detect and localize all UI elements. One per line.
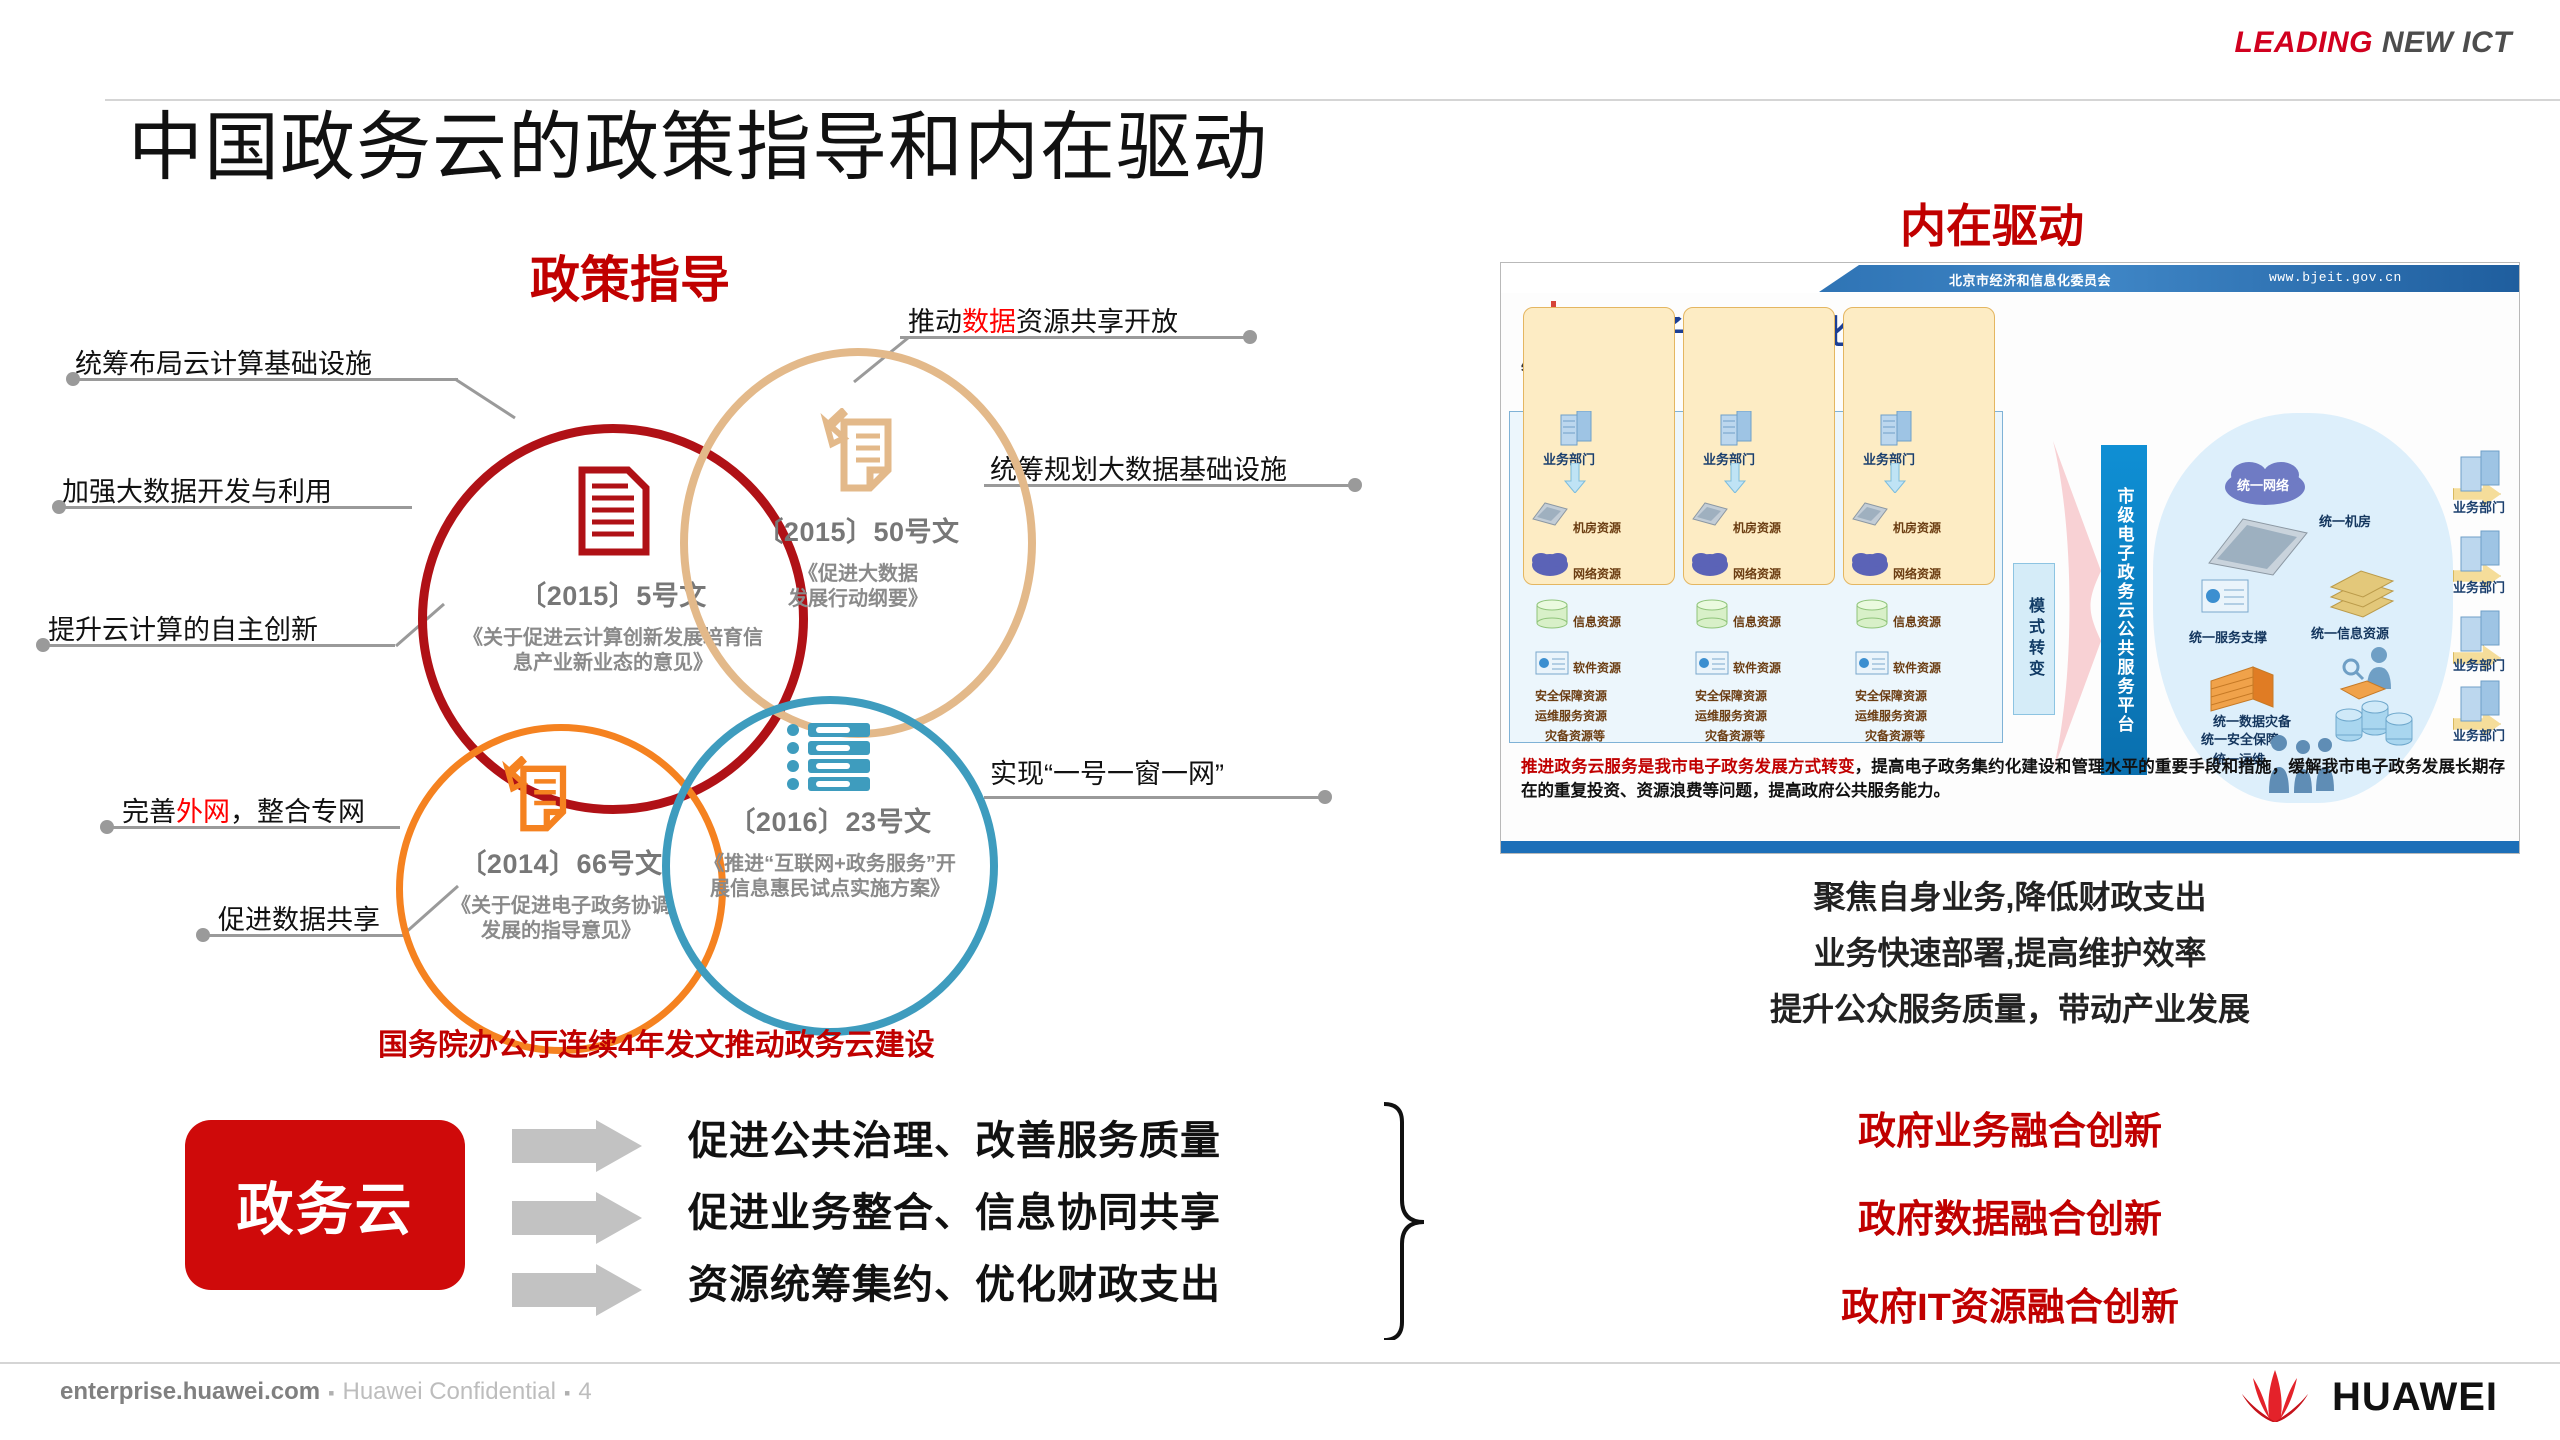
callout-left-4-pre: 完善 — [122, 797, 176, 827]
diagram-platform-bar: 市级电子政务云公共服务平台 — [2101, 445, 2147, 775]
right-bullet-3: 提升公众服务质量，带动产业发展 — [1500, 984, 2520, 1030]
footer-divider — [0, 1362, 2560, 1364]
callout-left-5-dot — [196, 928, 210, 942]
unified-service-support-icon — [2201, 579, 2249, 615]
diagram-res-3-2: 网络资源 — [1893, 565, 1941, 582]
down-arrow-1 — [1563, 463, 1587, 493]
callout-left-1-line — [78, 378, 458, 381]
callout-left-5-label: 促进数据共享 — [218, 898, 380, 937]
signed-document-icon-tan — [818, 408, 898, 492]
right-innovation-1: 政府业务融合创新 — [1500, 1100, 2520, 1155]
out-server-icon-3 — [2459, 609, 2503, 653]
callout-left-3-line — [45, 644, 395, 647]
callout-right-1-highlight: 数据 — [962, 307, 1016, 337]
server-icon-dept-2 — [1719, 411, 1753, 449]
diagram-cloud-label-2: 统一机房 — [2319, 511, 2371, 530]
diagram-res-1-1: 机房资源 — [1573, 519, 1621, 536]
callout-right-1-line — [900, 336, 1250, 339]
diagram-xres-3-3: 灾备资源等 — [1865, 727, 1925, 744]
right-innovation-2: 政府数据融合创新 — [1500, 1188, 2520, 1243]
callout-left-2-label: 加强大数据开发与利用 — [62, 470, 332, 509]
callout-left-5-line — [206, 934, 406, 937]
callout-left-4-highlight: 外网 — [176, 797, 230, 827]
callout-left-1-elbow — [455, 360, 545, 430]
policy-circle-2016-23-desc: 《推进“互联网+政务服务”开 展信息惠民试点实施方案》 — [662, 852, 998, 902]
diagram-xres-3-2: 运维服务资源 — [1855, 707, 1927, 724]
diagram-xres-1-2: 运维服务资源 — [1535, 707, 1607, 724]
policy-circle-2016-23-text: 〔2016〕23号文 《推进“互联网+政务服务”开 展信息惠民试点实施方案》 — [662, 800, 998, 902]
diagram-cloud-label-3: 统一信息资源 — [2311, 623, 2389, 642]
diagram-res-2-2: 网络资源 — [1733, 565, 1781, 582]
arrow-icon-2 — [512, 1192, 642, 1244]
pink-flow-arrow — [2049, 441, 2101, 771]
diagram-res-1-4: 软件资源 — [1573, 659, 1621, 676]
database-glyph-3 — [1855, 599, 1889, 629]
server-icon-dept-3 — [1879, 411, 1913, 449]
out-server-icon-4 — [2459, 679, 2503, 723]
unified-info-resource-icon — [2327, 563, 2397, 623]
diagram-xres-2-1: 安全保障资源 — [1695, 687, 1767, 704]
arrow-icon-1 — [512, 1120, 642, 1172]
footer-sep-2: ▪ — [556, 1383, 578, 1403]
benefit-item-3: 资源统筹集约、优化财政支出 — [688, 1252, 1221, 1310]
down-arrow-2 — [1723, 463, 1747, 493]
software-glyph-1 — [1535, 651, 1569, 675]
footer-page-number: 4 — [578, 1378, 591, 1405]
government-cloud-label: 政务云 — [237, 1164, 414, 1246]
diagram-cloud-label-6: 统一数据灾备 — [2213, 711, 2291, 730]
footer-text: enterprise.huawei.com▪Huawei Confidentia… — [60, 1378, 592, 1406]
diagram-caption-red: 推进政务云服务是我市电子政务发展方式转变 — [1521, 757, 1855, 776]
server-rack-icon — [786, 722, 872, 794]
leading-new-ict-logo: LEADING NEW ICT — [2235, 26, 2513, 60]
diagram-org-band: 北京市经济和信息化委员会 www.bjeit.gov.cn — [1819, 265, 2519, 292]
arrow-icon-3 — [512, 1264, 642, 1316]
gov-office-note: 国务院办公厅连续4年发文推动政务云建设 — [378, 1020, 935, 1064]
diagram-res-1-2: 网络资源 — [1573, 565, 1621, 582]
callout-right-2-dot — [1348, 478, 1362, 492]
callout-left-1-dot — [66, 372, 80, 386]
page-title: 中国政务云的政策指导和内在驱动 — [128, 105, 1268, 189]
cloud-glyph-2 — [1691, 551, 1729, 577]
government-cloud-box[interactable]: 政务云 — [185, 1120, 465, 1290]
cloud-glyph-3 — [1851, 551, 1889, 577]
right-innovation-3: 政府IT资源融合创新 — [1500, 1276, 2520, 1331]
callout-left-2-line — [62, 506, 412, 509]
diagram-caption: 推进政务云服务是我市电子政务发展方式转变，提高电子政务集约化建设和管理水平的重要… — [1521, 755, 2505, 803]
diagram-res-3-4: 软件资源 — [1893, 659, 1941, 676]
footer-sep-1: ▪ — [320, 1383, 342, 1403]
policy-guidance-heading: 政策指导 — [530, 240, 730, 312]
policy-circle-2015-50-number: 〔2015〕50号文 — [690, 510, 1026, 549]
internal-driver-heading: 内在驱动 — [1900, 190, 2084, 256]
diagram-xres-3-1: 安全保障资源 — [1855, 687, 1927, 704]
out-server-icon-2 — [2459, 529, 2503, 573]
out-server-icon-1 — [2459, 449, 2503, 493]
header-divider — [105, 99, 2560, 101]
callout-right-1-label: 推动数据资源共享开放 — [908, 300, 1178, 339]
callout-left-4-line — [110, 826, 400, 829]
footer-confidential: Huawei Confidential — [342, 1378, 555, 1405]
callout-left-4-post: ，整合专网 — [230, 797, 365, 827]
callout-right-3-label: 实现“一号一窗一网” — [990, 752, 1224, 791]
callout-right-3-line — [984, 796, 1324, 799]
diagram-cloud-label-4: 统一服务支撑 — [2189, 627, 2267, 646]
benefit-item-2: 促进业务整合、信息协同共享 — [688, 1180, 1221, 1238]
huawei-logo: HUAWEI — [2236, 1368, 2498, 1426]
policy-circle-2015-50-text: 〔2015〕50号文 《促进大数据 发展行动纲要》 — [690, 510, 1026, 612]
out-dept-label-3: 业务部门 — [2453, 655, 2505, 674]
diagram-dept-column-1 — [1523, 307, 1675, 585]
datacenter-glyph-3 — [1849, 499, 1891, 529]
database-glyph-1 — [1535, 599, 1569, 629]
diagram-xres-2-2: 运维服务资源 — [1695, 707, 1767, 724]
right-bullet-2: 业务快速部署,提高维护效率 — [1500, 928, 2520, 974]
diagram-dept-column-3 — [1843, 307, 1995, 585]
callout-right-1-dot — [1243, 330, 1257, 344]
software-glyph-3 — [1855, 651, 1889, 675]
diagram-res-2-1: 机房资源 — [1733, 519, 1781, 536]
slide-root: LEADING NEW ICT 中国政务云的政策指导和内在驱动 政策指导 内在驱… — [0, 0, 2560, 1440]
huawei-logo-text: HUAWEI — [2332, 1375, 2498, 1420]
callout-left-1-label: 统筹布局云计算基础设施 — [75, 342, 372, 381]
person-monitor-icon — [2337, 645, 2407, 707]
policy-circle-2015-50-desc: 《促进大数据 发展行动纲要》 — [690, 562, 1026, 612]
diagram-dept-column-2 — [1683, 307, 1835, 585]
callout-left-3-dot — [36, 638, 50, 652]
callout-right-1-post: 资源共享开放 — [1016, 307, 1178, 337]
beijing-egov-diagram: 北京市经济和信息化委员会 www.bjeit.gov.cn 电子政务集约化建设思… — [1500, 262, 2520, 854]
out-dept-label-2: 业务部门 — [2453, 577, 2505, 596]
callout-left-4-label: 完善外网，整合专网 — [122, 790, 365, 829]
signed-document-icon-orange — [500, 756, 572, 832]
diagram-res-2-4: 软件资源 — [1733, 659, 1781, 676]
diagram-res-2-3: 信息资源 — [1733, 613, 1781, 630]
diagram-xres-2-3: 灾备资源等 — [1705, 727, 1765, 744]
footer-site: enterprise.huawei.com — [60, 1378, 320, 1405]
diagram-res-3-1: 机房资源 — [1893, 519, 1941, 536]
callout-left-4-dot — [100, 820, 114, 834]
diagram-org-name: 北京市经济和信息化委员会 — [1949, 270, 2111, 289]
huawei-flower-icon — [2236, 1368, 2314, 1426]
benefits-brace — [1378, 1100, 1442, 1340]
benefit-item-1: 促进公共治理、改善服务质量 — [688, 1108, 1221, 1166]
document-icon — [576, 466, 652, 556]
callout-right-3-dot — [1318, 790, 1332, 804]
callout-left-3-label: 提升云计算的自主创新 — [48, 608, 318, 647]
diagram-org-url: www.bjeit.gov.cn — [2269, 270, 2402, 285]
callout-right-2-line — [984, 484, 1354, 487]
right-bullet-1: 聚焦自身业务,降低财政支出 — [1500, 872, 2520, 918]
database-glyph-2 — [1695, 599, 1729, 629]
server-icon-dept-1 — [1559, 411, 1593, 449]
diagram-mode-change-label: 模式转变 — [2022, 597, 2046, 681]
diagram-cloud-label-1: 统一网络 — [2237, 475, 2289, 494]
policy-circle-2016-23-number: 〔2016〕23号文 — [662, 800, 998, 839]
callout-right-2-label: 统筹规划大数据基础设施 — [990, 448, 1287, 487]
down-arrow-3 — [1883, 463, 1907, 493]
brand-leading-text: LEADING — [2235, 26, 2374, 59]
diagram-xres-1-1: 安全保障资源 — [1535, 687, 1607, 704]
callout-left-2-dot — [52, 500, 66, 514]
out-dept-label-4: 业务部门 — [2453, 725, 2505, 744]
software-glyph-2 — [1695, 651, 1729, 675]
datacenter-glyph-2 — [1689, 499, 1731, 529]
diagram-platform-label: 市级电子政务云公共服务平台 — [2112, 487, 2137, 734]
brand-ict-text: NEW ICT — [2373, 26, 2512, 59]
unified-datacenter-icon — [2203, 511, 2313, 581]
datacenter-glyph-1 — [1529, 499, 1571, 529]
cloud-glyph-1 — [1531, 551, 1569, 577]
diagram-xres-1-3: 灾备资源等 — [1545, 727, 1605, 744]
diagram-footer-band — [1501, 841, 2519, 853]
out-dept-label-1: 业务部门 — [2453, 497, 2505, 516]
diagram-res-3-3: 信息资源 — [1893, 613, 1941, 630]
diagram-res-1-3: 信息资源 — [1573, 613, 1621, 630]
